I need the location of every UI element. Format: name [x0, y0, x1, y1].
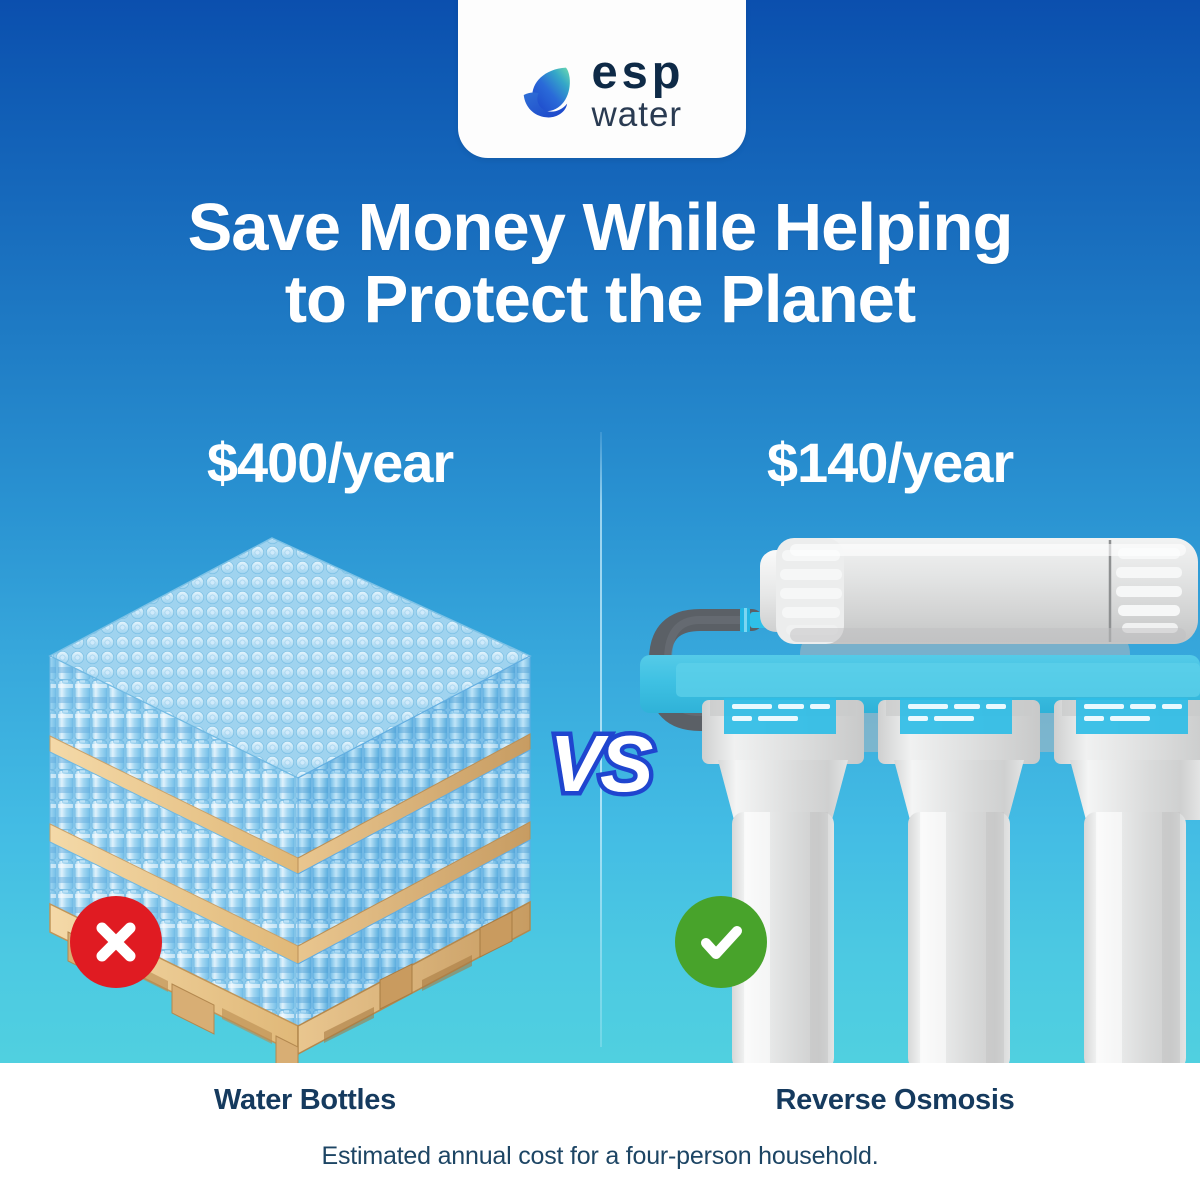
brand-name-primary: esp	[592, 48, 685, 95]
leaf-droplet-icon	[520, 59, 582, 121]
status-badge-good	[675, 896, 767, 988]
filter-housing-1	[702, 698, 864, 1065]
brand-logo: esp water	[520, 48, 685, 132]
brand-wordmark: esp water	[592, 48, 685, 132]
brand-logo-card[interactable]: esp water	[458, 0, 746, 158]
label-water-bottles: Water Bottles	[40, 1084, 570, 1117]
infographic-poster: esp water Save Money While Helping to Pr…	[0, 0, 1200, 1200]
check-icon	[694, 915, 748, 969]
filter-housing-2	[878, 698, 1040, 1065]
headline: Save Money While Helping to Protect the …	[0, 192, 1200, 337]
vs-label: VS	[520, 718, 680, 810]
cross-icon	[90, 916, 142, 968]
filter-housing-3	[1054, 698, 1200, 1065]
headline-line-1: Save Money While Helping	[188, 190, 1013, 265]
label-reverse-osmosis: Reverse Osmosis	[630, 1084, 1160, 1117]
brand-name-secondary: water	[592, 97, 685, 132]
status-badge-bad	[70, 896, 162, 988]
headline-line-2: to Protect the Planet	[0, 264, 1200, 336]
footnote: Estimated annual cost for a four-person …	[0, 1142, 1200, 1171]
price-water-bottles: $400/year	[60, 430, 600, 495]
price-reverse-osmosis: $140/year	[620, 430, 1160, 495]
